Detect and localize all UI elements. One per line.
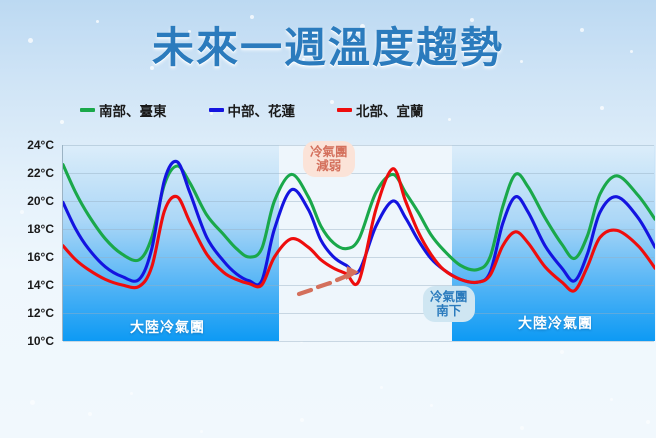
snow-dot bbox=[60, 120, 64, 124]
legend-label: 南部、臺東 bbox=[99, 100, 167, 120]
snow-dot bbox=[448, 118, 451, 121]
snow-dot bbox=[88, 412, 92, 416]
y-axis-tick-label: 14°C bbox=[27, 278, 54, 292]
callout-south-line1: 冷氣團 bbox=[430, 290, 468, 304]
y-axis-tick-label: 16°C bbox=[27, 250, 54, 264]
y-axis-tick-label: 22°C bbox=[27, 166, 54, 180]
y-axis-tick-label: 12°C bbox=[27, 306, 54, 320]
page-title: 未來一週溫度趨勢 bbox=[0, 14, 656, 75]
legend-item-0[interactable]: 南部、臺東 bbox=[80, 100, 167, 120]
snow-dot bbox=[520, 426, 524, 430]
rising-trend-arrow-icon bbox=[295, 262, 365, 304]
legend-label: 中部、花蓮 bbox=[228, 100, 296, 120]
y-axis: 24°C22°C20°C18°C16°C14°C12°C10°C bbox=[0, 145, 60, 341]
legend-swatch-icon bbox=[80, 108, 95, 112]
y-axis-tick-label: 24°C bbox=[27, 138, 54, 152]
legend-swatch-icon bbox=[337, 108, 352, 112]
y-axis-tick-label: 10°C bbox=[27, 334, 54, 348]
legend-item-2[interactable]: 北部、宜蘭 bbox=[337, 100, 424, 120]
y-axis-tick-label: 20°C bbox=[27, 194, 54, 208]
callout-cold-air-southward: 冷氣團 南下 bbox=[423, 286, 475, 322]
band-label-left: 大陸冷氣團 bbox=[130, 317, 205, 337]
snow-dot bbox=[600, 106, 604, 110]
snow-dot bbox=[300, 418, 304, 422]
snow-dot bbox=[30, 400, 35, 405]
callout-cold-air-weakening: 冷氣團 減弱 bbox=[303, 141, 355, 177]
temperature-lines bbox=[63, 145, 655, 341]
x-axis: 17(一)18(二)19(三)20(四)21(五)22(六)23(日) bbox=[62, 348, 654, 406]
chart-legend: 南部、臺東中部、花蓮北部、宜蘭 bbox=[80, 100, 424, 120]
legend-swatch-icon bbox=[209, 108, 224, 112]
arrow-head-icon bbox=[346, 266, 359, 280]
y-axis-tick-label: 18°C bbox=[27, 222, 54, 236]
callout-weaken-line1: 冷氣團 bbox=[310, 145, 348, 159]
callout-south-line2: 南下 bbox=[430, 304, 468, 318]
snow-dot bbox=[200, 430, 203, 433]
legend-item-1[interactable]: 中部、花蓮 bbox=[209, 100, 296, 120]
snow-dot bbox=[646, 420, 650, 424]
legend-label: 北部、宜蘭 bbox=[356, 100, 424, 120]
chart-plot-area bbox=[62, 145, 654, 341]
grid-line bbox=[63, 341, 654, 342]
band-label-right: 大陸冷氣團 bbox=[518, 313, 593, 333]
callout-weaken-line2: 減弱 bbox=[310, 159, 348, 173]
